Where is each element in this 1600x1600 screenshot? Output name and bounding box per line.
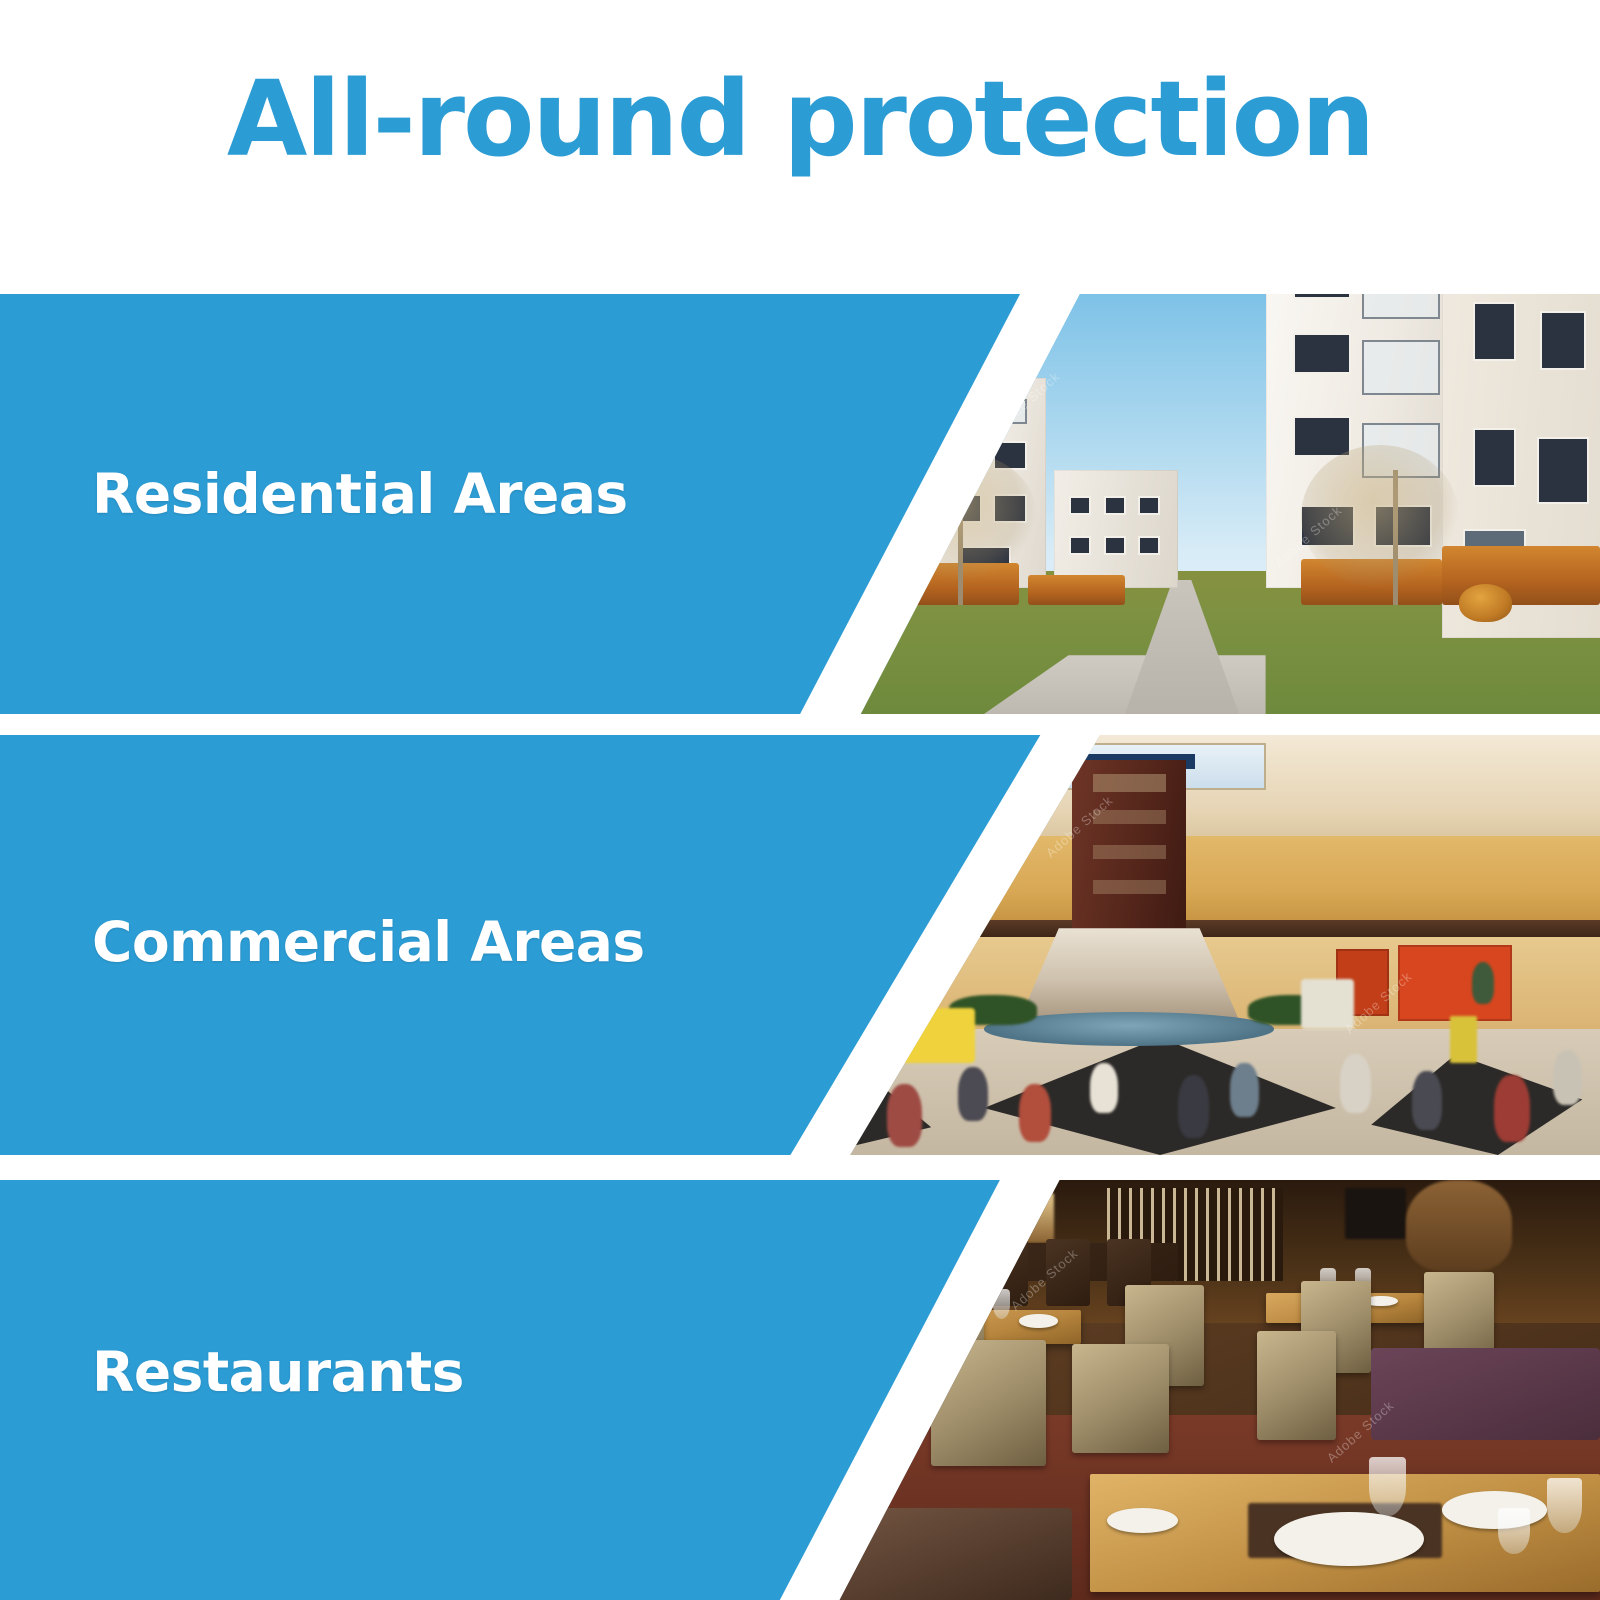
title-bar: All-round protection	[0, 0, 1600, 294]
shopper	[1472, 962, 1495, 1004]
plate	[1019, 1314, 1058, 1327]
band-label-residential: Residential Areas	[92, 462, 628, 526]
shopper	[958, 1067, 988, 1122]
kiosk	[1301, 979, 1354, 1029]
wood-panel	[1406, 1180, 1512, 1272]
shopper	[1178, 1075, 1210, 1138]
band-residential[interactable]: Adobe Stock Adobe Stock Residential Area…	[0, 294, 1600, 714]
band-label-restaurants: Restaurants	[92, 1340, 464, 1404]
tree-crown-3	[1301, 445, 1459, 588]
water-glass	[1498, 1508, 1530, 1554]
building-distant	[1054, 470, 1177, 588]
plate	[720, 1335, 750, 1348]
wine-glass	[1369, 1457, 1406, 1516]
shopper	[1553, 1050, 1583, 1105]
shopper	[887, 1084, 922, 1147]
bar-stool	[861, 1247, 905, 1306]
bush-left	[773, 571, 835, 621]
hedge-left	[720, 554, 878, 604]
booth-seat	[1371, 1348, 1600, 1440]
wine-glass	[1547, 1478, 1582, 1533]
tree-trunk-1	[861, 412, 866, 605]
bar-stool	[1046, 1239, 1090, 1306]
shopper	[1340, 1054, 1372, 1113]
band-label-commercial: Commercial Areas	[92, 910, 645, 974]
band-commercial[interactable]: Adobe Stock Adobe Stock Commercial Areas	[0, 735, 1600, 1155]
storefront-swarovski	[1398, 945, 1512, 1021]
shopper	[1230, 1063, 1258, 1118]
dining-chair	[1257, 1331, 1336, 1440]
poster-root: All-round protection	[0, 0, 1600, 1600]
foreground-table-left	[720, 1335, 808, 1364]
page-title: All-round protection	[227, 67, 1373, 171]
shopper	[1494, 1075, 1529, 1142]
shopper	[1019, 1084, 1051, 1143]
brick-wall	[720, 1180, 896, 1348]
bread-plate	[1107, 1508, 1177, 1533]
shopper	[1412, 1071, 1442, 1130]
sign-board	[1450, 1016, 1476, 1062]
hedge-center	[1028, 575, 1125, 604]
shopper	[1090, 1063, 1118, 1113]
dining-chair	[1072, 1344, 1169, 1453]
dinner-plate	[1274, 1512, 1424, 1567]
storefront-zales	[738, 953, 861, 1020]
wall-art	[1345, 1188, 1407, 1238]
bush-right	[1459, 584, 1512, 622]
band-restaurants[interactable]: Adobe Stock Adobe Stock Restaurants	[0, 1180, 1600, 1600]
central-tower	[1072, 760, 1186, 936]
side-plate	[1442, 1491, 1548, 1529]
